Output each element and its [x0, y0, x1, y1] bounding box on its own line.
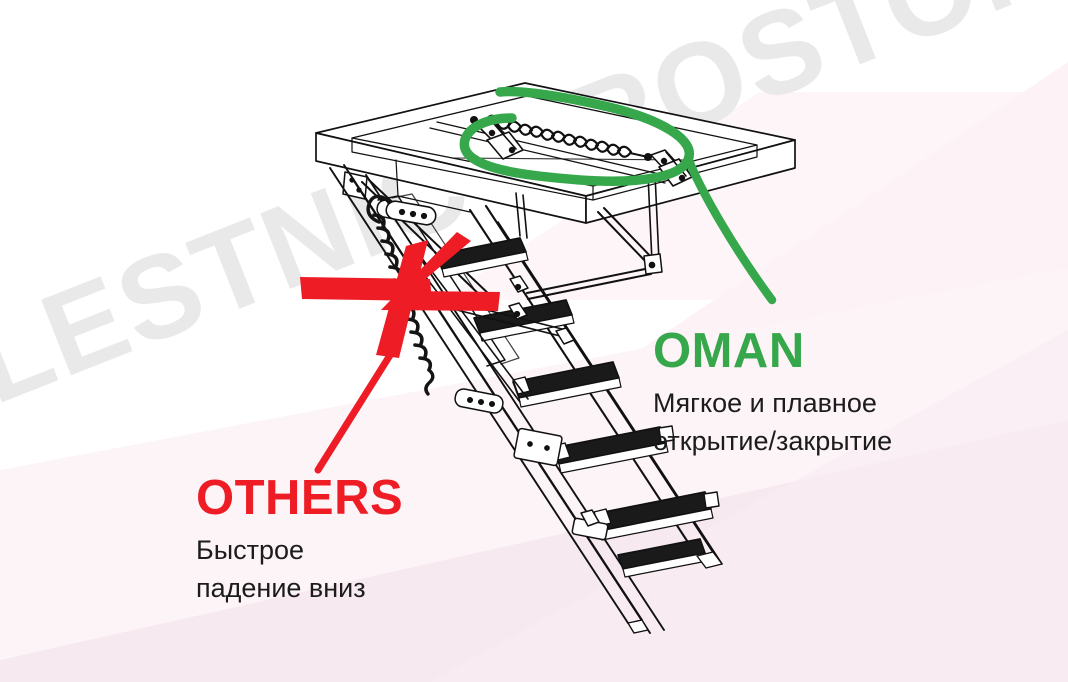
callout-others: OTHERS Быстрое падение вниз	[196, 474, 403, 608]
support-arm-right-main-b	[604, 208, 654, 260]
ladder-foot-left	[628, 620, 648, 633]
oman-subtitle-line-2: открытие/закрытие	[653, 422, 892, 460]
support-arm-right-lower	[527, 268, 650, 293]
drop-rod-right-bracket	[644, 254, 662, 274]
ladder-spring-tail	[426, 370, 433, 394]
ladder-spring-mount-plate	[385, 200, 437, 226]
others-subtitle-line-2: падение вниз	[196, 569, 403, 607]
ladder-foot-right	[697, 552, 722, 568]
oman-subtitle-line-1: Мягкое и плавное	[653, 384, 892, 422]
others-subtitle-line-1: Быстрое	[196, 531, 403, 569]
red-arrow-tail	[318, 352, 392, 470]
attic-ladder-illustration	[0, 0, 1068, 682]
others-title: OTHERS	[196, 474, 403, 523]
callout-oman: OMAN Мягкое и плавное открытие/закрытие	[653, 327, 892, 461]
poster-canvas: LESTNIC-PROSTO.RU	[0, 0, 1068, 682]
support-arm-right-main	[598, 212, 648, 264]
hinge-plate-mid	[454, 388, 505, 415]
oman-title: OMAN	[653, 327, 892, 376]
